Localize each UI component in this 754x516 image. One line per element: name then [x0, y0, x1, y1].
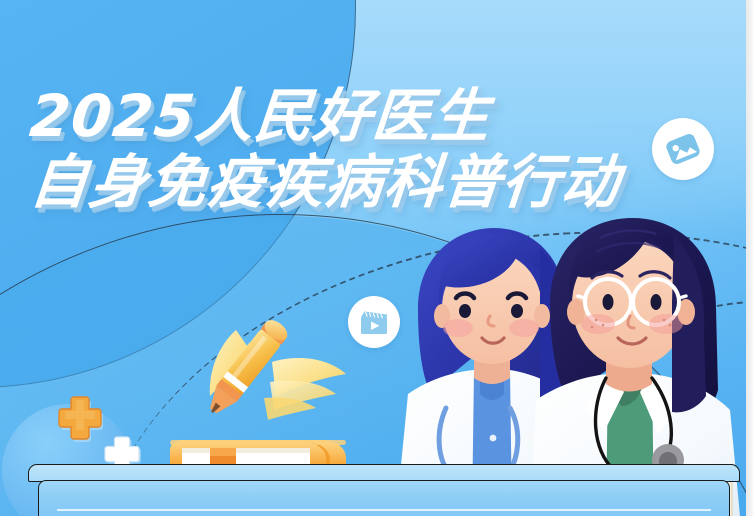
orange-plus-icon — [58, 392, 102, 436]
image-icon — [663, 129, 703, 169]
desk-highlight-line — [57, 509, 711, 511]
page-edge-strip — [746, 0, 754, 516]
campaign-banner: 2025人民好医生 自身免疫疾病科普行动 — [0, 0, 754, 516]
video-badge[interactable] — [348, 296, 400, 348]
title-line-2: 自身免疫疾病科普行动 — [27, 150, 623, 214]
desk-body — [38, 480, 730, 516]
photo-badge[interactable] — [652, 118, 714, 180]
reception-desk — [28, 464, 740, 516]
film-clapper-play-icon — [357, 305, 391, 339]
page-title: 2025人民好医生 自身免疫疾病科普行动 — [30, 84, 620, 214]
title-line-1: 2025人民好医生 — [27, 84, 623, 148]
